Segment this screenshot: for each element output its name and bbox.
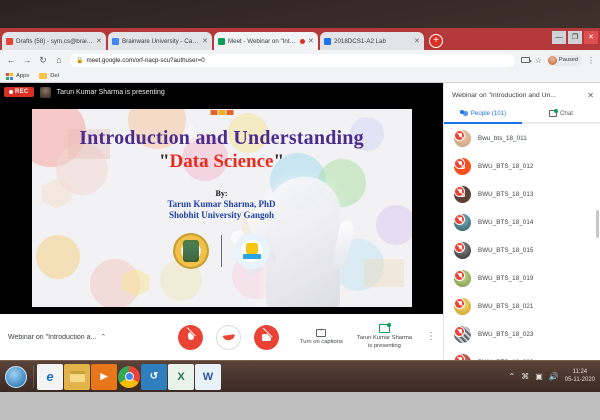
- system-tray: ⌃ ⌘ ▣ 🔊 11:24 05-11-2020: [509, 369, 600, 384]
- muted-icon: [454, 298, 465, 309]
- folder-icon: [39, 73, 47, 79]
- brainware-university-logo-icon: [234, 233, 270, 269]
- avatar: [454, 242, 471, 259]
- muted-icon: [454, 186, 465, 197]
- close-icon[interactable]: ✕: [587, 91, 594, 100]
- muted-icon: [454, 242, 465, 253]
- turn-on-captions-button[interactable]: Turn on captions: [300, 329, 343, 346]
- bookmarks-bar: Apps Del: [0, 70, 600, 83]
- browser-tab[interactable]: Drafts (58) - sym.cs@brainware... ✕: [2, 32, 106, 50]
- meet-stage: REC Tarun Kumar Sharma is presenting: [0, 83, 443, 360]
- profile-chip[interactable]: Paused: [547, 55, 582, 66]
- list-item[interactable]: BWU_BTS_18_015: [444, 236, 600, 264]
- muted-icon: [454, 130, 465, 141]
- muted-icon: [454, 214, 465, 225]
- avatar: [548, 56, 557, 65]
- close-quote: ": [273, 151, 284, 172]
- profile-status-label: Paused: [559, 57, 578, 63]
- avatar: [454, 326, 471, 343]
- slide-title-line2: "Data Science": [32, 151, 412, 173]
- more-options-icon[interactable]: ⋮: [426, 334, 435, 340]
- recording-indicator-icon: [300, 39, 305, 44]
- muted-icon: [454, 158, 465, 169]
- recording-banner: REC Tarun Kumar Sharma is presenting: [0, 83, 443, 101]
- meet-icon: [218, 38, 225, 45]
- file-explorer-icon[interactable]: [64, 364, 90, 390]
- meeting-title: Webinar on "Introduction a...: [8, 334, 96, 341]
- close-icon[interactable]: ✕: [96, 38, 102, 45]
- tab-people[interactable]: People (101): [444, 106, 522, 122]
- volume-icon[interactable]: 🔊: [549, 372, 559, 381]
- list-item[interactable]: B BWU_BTS_18_012: [444, 152, 600, 180]
- address-bar[interactable]: 🔒 meet.google.com/orf-nacp-scu?authuser=…: [70, 54, 515, 67]
- bookmark-apps[interactable]: Apps: [6, 73, 29, 80]
- participant-name: BWU_BTS_18_021: [478, 303, 533, 310]
- clock[interactable]: 11:24 05-11-2020: [565, 369, 595, 384]
- minimize-button[interactable]: —: [552, 31, 566, 44]
- tab-label: Drafts (58) - sym.cs@brainware...: [16, 38, 93, 45]
- bookmark-folder-del[interactable]: Del: [39, 73, 59, 79]
- gmail-icon: [6, 38, 13, 45]
- tab-label: Meet - Webinar on "Introdu...: [228, 38, 297, 45]
- pdf-reader-icon[interactable]: ↺: [141, 364, 167, 390]
- avatar: [454, 270, 471, 287]
- record-dot-icon: [9, 90, 13, 94]
- microphone-off-button[interactable]: [178, 325, 203, 350]
- classroom-icon: [324, 38, 331, 45]
- list-item[interactable]: Bwu_bts_18_011: [444, 124, 600, 152]
- network-icon[interactable]: ⌘: [521, 372, 529, 381]
- list-item[interactable]: BWU_BTS_18_021: [444, 292, 600, 320]
- presenting-label-line2: is presenting: [368, 343, 401, 350]
- bookmark-star-icon[interactable]: ☆: [535, 56, 542, 65]
- reload-icon[interactable]: ↻: [38, 55, 48, 66]
- start-orb-icon[interactable]: [5, 366, 27, 388]
- close-window-button[interactable]: ✕: [584, 31, 598, 44]
- captions-icon: [316, 329, 326, 337]
- list-item[interactable]: BWU_BTS_18_023: [444, 320, 600, 348]
- display-icon[interactable]: ▣: [535, 372, 543, 381]
- presenter-avatar: [40, 87, 51, 98]
- clock-date: 05-11-2020: [565, 377, 595, 385]
- microsoft-word-icon[interactable]: W: [195, 364, 221, 390]
- browser-tab[interactable]: Brainware University - Calendar ✕: [108, 32, 212, 50]
- url-toolbar: ← → ↻ ⌂ 🔒 meet.google.com/orf-nacp-scu?a…: [0, 50, 600, 70]
- chevron-up-icon[interactable]: ⌃: [100, 333, 106, 341]
- url-text: meet.google.com/orf-nacp-scu?authuser=0: [86, 57, 204, 64]
- desktop-bottom-strip: [0, 392, 600, 420]
- panel-tabs: People (101) Chat: [444, 106, 600, 122]
- presenting-banner-label: Tarun Kumar Sharma is presenting: [57, 89, 165, 96]
- slide-subject: Data Science: [170, 151, 274, 172]
- chrome-browser-window: Drafts (58) - sym.cs@brainware... ✕ Brai…: [0, 28, 600, 360]
- muted-icon: [454, 270, 465, 281]
- slide-affiliation: Shobhit University Gangoh: [32, 210, 412, 220]
- avatar: B: [454, 158, 471, 175]
- clock-time: 11:24: [565, 369, 595, 377]
- tab-label: Chat: [560, 110, 573, 117]
- muted-icon: [454, 326, 465, 337]
- slide-author: Tarun Kumar Sharma, PhD: [32, 199, 412, 209]
- forward-icon[interactable]: →: [22, 55, 32, 65]
- presentation-slide: Introduction and Understanding "Data Sci…: [32, 109, 412, 307]
- maximize-button[interactable]: ❐: [568, 31, 582, 44]
- list-item[interactable]: BWU_BTS_18_030: [444, 348, 600, 360]
- rec-label: REC: [15, 89, 29, 95]
- presenting-label-line1: Tarun Kumar Sharma: [357, 335, 412, 342]
- page-content: REC Tarun Kumar Sharma is presenting: [0, 83, 600, 360]
- list-item[interactable]: BWU_BTS_18_014: [444, 208, 600, 236]
- windows-taskbar: e ▶ ↺ X W ⌃ ⌘ ▣ 🔊 11:24 05-11-2020: [0, 360, 600, 392]
- avatar: [454, 298, 471, 315]
- internet-explorer-icon[interactable]: e: [37, 364, 63, 390]
- tab-strip: Drafts (58) - sym.cs@brainware... ✕ Brai…: [0, 28, 600, 50]
- participant-name: BWU_BTS_18_012: [478, 163, 533, 170]
- list-item[interactable]: B BWU_BTS_18_013: [444, 180, 600, 208]
- screen: Drafts (58) - sym.cs@brainware... ✕ Brai…: [0, 0, 600, 420]
- call-controls: [158, 325, 300, 350]
- tab-chat[interactable]: Chat: [522, 106, 600, 122]
- participant-name: BWU_BTS_18_013: [478, 191, 533, 198]
- taskbar-divider: [33, 366, 34, 388]
- panel-scrollbar[interactable]: [596, 210, 599, 238]
- open-quote: ": [159, 151, 170, 172]
- close-icon[interactable]: ✕: [202, 38, 208, 45]
- participant-name: BWU_BTS_18_023: [478, 331, 533, 338]
- shobhit-university-logo-icon: [173, 233, 209, 269]
- avatar: B: [454, 186, 471, 203]
- apps-grid-icon: [6, 73, 13, 80]
- meet-secondary-controls: Turn on captions Tarun Kumar Sharma is p…: [300, 324, 435, 350]
- back-icon[interactable]: ←: [6, 55, 16, 65]
- chat-icon: [549, 110, 557, 117]
- end-call-button[interactable]: [216, 325, 241, 350]
- avatar: [454, 214, 471, 231]
- bookmark-label: Apps: [16, 73, 29, 79]
- panel-title: Webinar on "Introduction and Un...: [452, 92, 583, 99]
- browser-tab-active[interactable]: Meet - Webinar on "Introdu... ✕: [214, 32, 318, 50]
- show-hidden-icons-icon[interactable]: ⌃: [509, 372, 516, 381]
- avatar: [454, 130, 471, 147]
- logo-divider: [221, 235, 223, 267]
- people-panel: Webinar on "Introduction and Un... ✕ Peo…: [443, 83, 600, 360]
- tab-label: 2018DCS1-A2 Lab: [334, 38, 411, 45]
- participant-name: BWU_BTS_18_014: [478, 219, 533, 226]
- shared-screen-area[interactable]: Introduction and Understanding "Data Sci…: [0, 101, 443, 314]
- google-chrome-icon[interactable]: [118, 366, 140, 388]
- meet-control-bar: Webinar on "Introduction a... ⌃ Turn on …: [0, 314, 443, 360]
- camera-share-icon[interactable]: [521, 57, 530, 63]
- home-icon[interactable]: ⌂: [54, 55, 64, 65]
- toolbar-actions: ☆ Paused ⋮: [521, 55, 594, 66]
- camera-off-button[interactable]: [254, 325, 279, 350]
- participant-list[interactable]: Bwu_bts_18_011 B BWU_BTS_18_012 B: [444, 124, 600, 360]
- participant-name: Bwu_bts_18_011: [478, 135, 527, 142]
- bookmark-label: Del: [50, 73, 59, 79]
- calendar-icon: [112, 38, 119, 45]
- lock-icon: 🔒: [76, 57, 83, 64]
- new-tab-button[interactable]: +: [429, 34, 443, 48]
- tab-label: People (101): [471, 110, 506, 117]
- close-icon[interactable]: ✕: [414, 38, 420, 45]
- participant-name: BWU_BTS_18_015: [478, 247, 533, 254]
- media-player-icon[interactable]: ▶: [91, 364, 117, 390]
- close-icon[interactable]: ✕: [308, 38, 314, 45]
- slide-text: Introduction and Understanding "Data Sci…: [32, 109, 412, 270]
- microsoft-excel-icon[interactable]: X: [168, 364, 194, 390]
- captions-label: Turn on captions: [300, 339, 343, 346]
- tab-label: Brainware University - Calendar: [122, 38, 199, 45]
- panel-header: Webinar on "Introduction and Un... ✕: [444, 83, 600, 106]
- chrome-menu-icon[interactable]: ⋮: [587, 56, 594, 65]
- people-icon: [460, 110, 468, 117]
- present-now-button[interactable]: Tarun Kumar Sharma is presenting: [357, 324, 412, 350]
- participant-name: BWU_BTS_18_019: [478, 275, 533, 282]
- browser-tab[interactable]: 2018DCS1-A2 Lab ✕: [320, 32, 424, 50]
- list-item[interactable]: BWU_BTS_18_019: [444, 264, 600, 292]
- present-screen-icon: [379, 324, 390, 333]
- slide-title-line1: Introduction and Understanding: [32, 127, 412, 150]
- meeting-info[interactable]: Webinar on "Introduction a... ⌃: [8, 333, 158, 341]
- slide-logos: [32, 233, 412, 269]
- slide-color-tag: [210, 110, 233, 115]
- rec-badge: REC: [4, 87, 34, 97]
- slide-by-label: By:: [32, 189, 412, 198]
- window-controls: — ❐ ✕: [552, 31, 598, 44]
